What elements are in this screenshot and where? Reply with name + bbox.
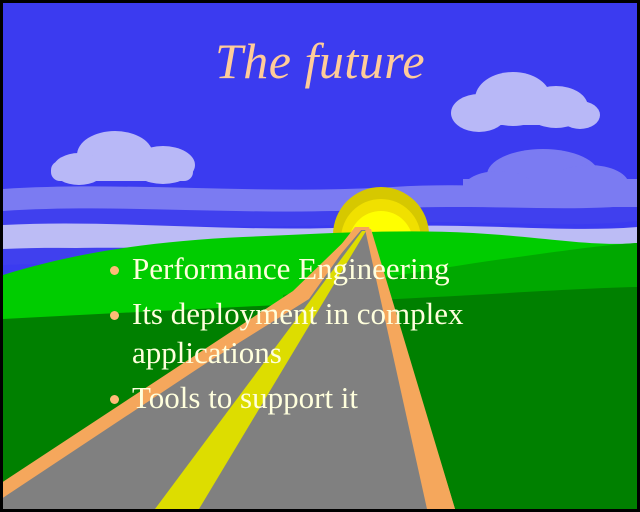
bullet-dot-icon (110, 311, 119, 320)
bullet-dot-icon (110, 266, 119, 275)
bullet-dot-icon (110, 395, 119, 404)
bullet-text: Its deployment in complex applications (132, 294, 598, 372)
list-item: Its deployment in complex applications (98, 294, 598, 372)
list-item: Performance Engineering (98, 249, 598, 288)
list-item: Tools to support it (98, 378, 598, 417)
bullet-text: Performance Engineering (132, 249, 598, 288)
presentation-slide: The future Performance Engineering Its d… (0, 0, 640, 512)
bullet-text: Tools to support it (132, 378, 598, 417)
slide-title: The future (3, 35, 637, 87)
slide-bullet-list: Performance Engineering Its deployment i… (98, 249, 598, 423)
